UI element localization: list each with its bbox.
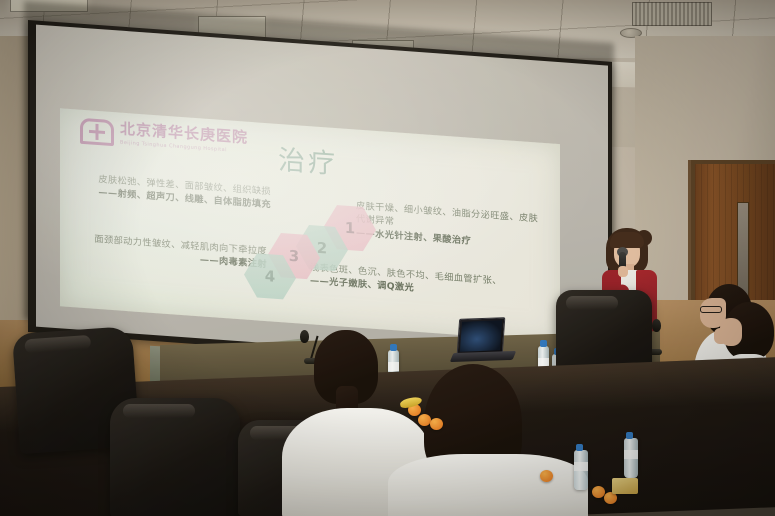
- slide-block-top-right: 皮肤干燥、细小皱纹、油脂分泌旺盛、皮肤代谢异常 ——水光针注射、果酸治疗: [356, 200, 546, 254]
- hospital-cross-logo-icon: [80, 118, 114, 146]
- orange: [540, 470, 553, 482]
- office-chair[interactable]: [110, 398, 240, 516]
- audience-lab-coat: [388, 454, 588, 516]
- slide-title: 治疗: [278, 138, 338, 181]
- presentation-photo-scene: 北京清华长庚医院 Beijing Tsinghua Changgung Hosp…: [0, 0, 775, 516]
- chair-highlight: [123, 404, 195, 418]
- slide-block-top-left: 皮肤松弛、弹性差、面部皱纹、组织缺损 ——射频、超声刀、线雕、自体脂肪填充: [86, 172, 271, 212]
- slide-block-problem: 皮肤干燥、细小皱纹、油脂分泌旺盛、皮肤代谢异常: [356, 201, 538, 228]
- audience-front-center: [404, 398, 584, 516]
- laptop[interactable]: [457, 317, 506, 355]
- hexagon-diagram: 1 2 3 4: [248, 200, 378, 301]
- slide-block-bottom-left: 面颈部动力性皱纹、减轻肌肉向下牵拉度 ——肉毒素注射: [82, 232, 267, 272]
- presenter-bangs: [610, 232, 644, 248]
- snack-pack: [612, 478, 638, 494]
- gooseneck-mic-head-icon: [652, 319, 661, 332]
- orange: [592, 486, 605, 498]
- water-bottle: [574, 450, 588, 490]
- laptop-screen: [460, 320, 502, 351]
- slide-block-problem: 面颈部动力性皱纹、减轻肌肉向下牵拉度: [94, 234, 267, 257]
- presenter-hand: [618, 266, 628, 277]
- projection-screen: 北京清华长庚医院 Beijing Tsinghua Changgung Hosp…: [28, 20, 612, 374]
- presentation-slide: 北京清华长庚医院 Beijing Tsinghua Changgung Hosp…: [60, 108, 560, 342]
- chair-highlight: [566, 296, 619, 310]
- audience-face: [720, 318, 742, 346]
- air-vent: [632, 2, 712, 26]
- water-bottle: [624, 438, 638, 478]
- screen-surface: 北京清华长庚医院 Beijing Tsinghua Changgung Hosp…: [36, 25, 608, 368]
- hospital-logo: 北京清华长庚医院 Beijing Tsinghua Changgung Hosp…: [80, 118, 248, 156]
- orange: [430, 418, 443, 430]
- chair-highlight: [24, 335, 91, 354]
